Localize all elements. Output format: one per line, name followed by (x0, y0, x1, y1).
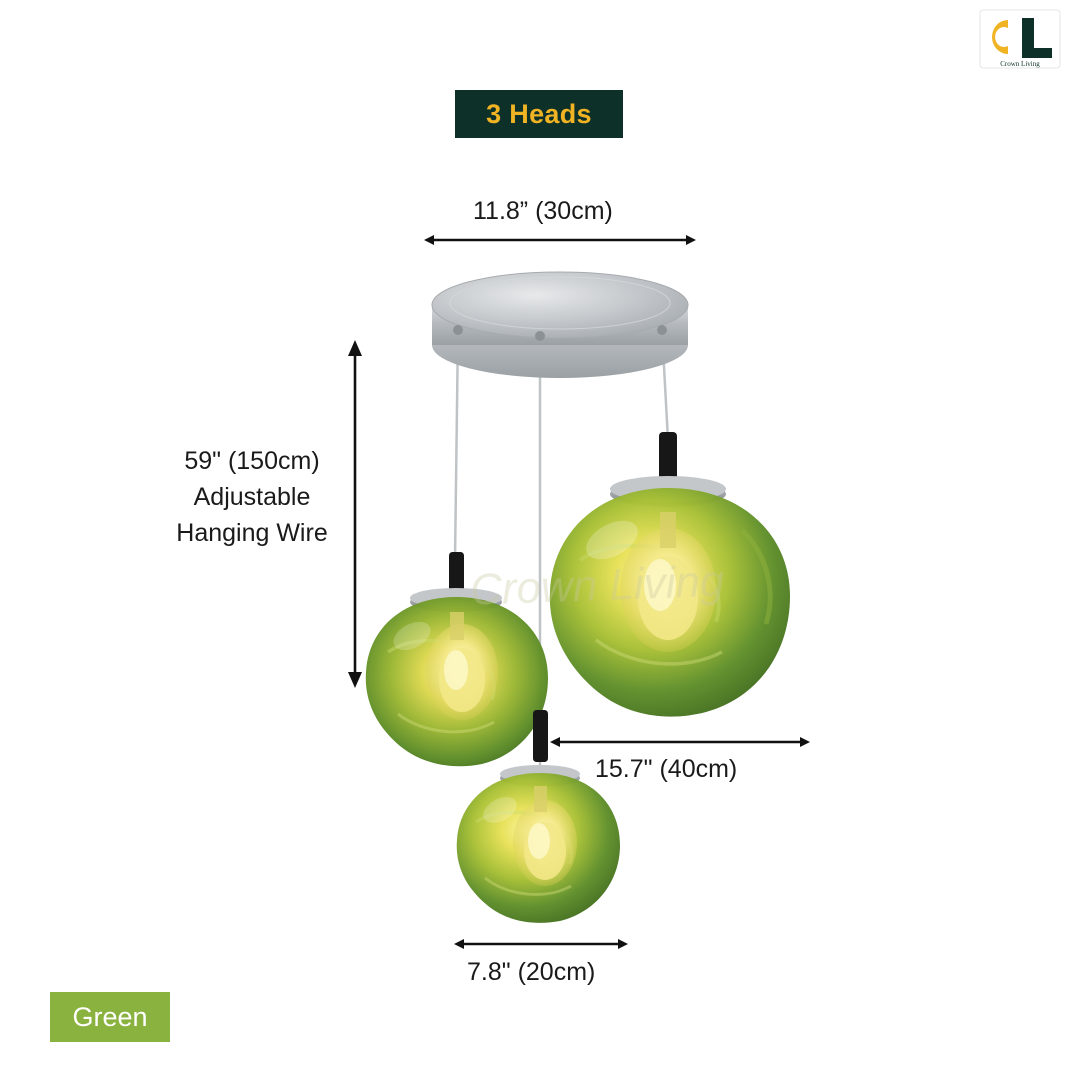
wire-length-line3: Hanging Wire (152, 515, 352, 551)
wire-length-line1: 59" (150cm) (152, 443, 352, 479)
color-badge: Green (50, 992, 170, 1042)
globe-dimension-label: 7.8" (20cm) (467, 958, 595, 987)
wire-length-line2: Adjustable (152, 479, 352, 515)
wire-length-dimension-label: 59" (150cm) Adjustable Hanging Wire (152, 443, 352, 551)
spread-dimension-label: 15.7" (40cm) (595, 755, 737, 784)
canopy-dimension-label: 11.8” (30cm) (473, 197, 613, 226)
color-badge-label: Green (72, 1002, 147, 1033)
ceiling-canopy (432, 272, 688, 378)
